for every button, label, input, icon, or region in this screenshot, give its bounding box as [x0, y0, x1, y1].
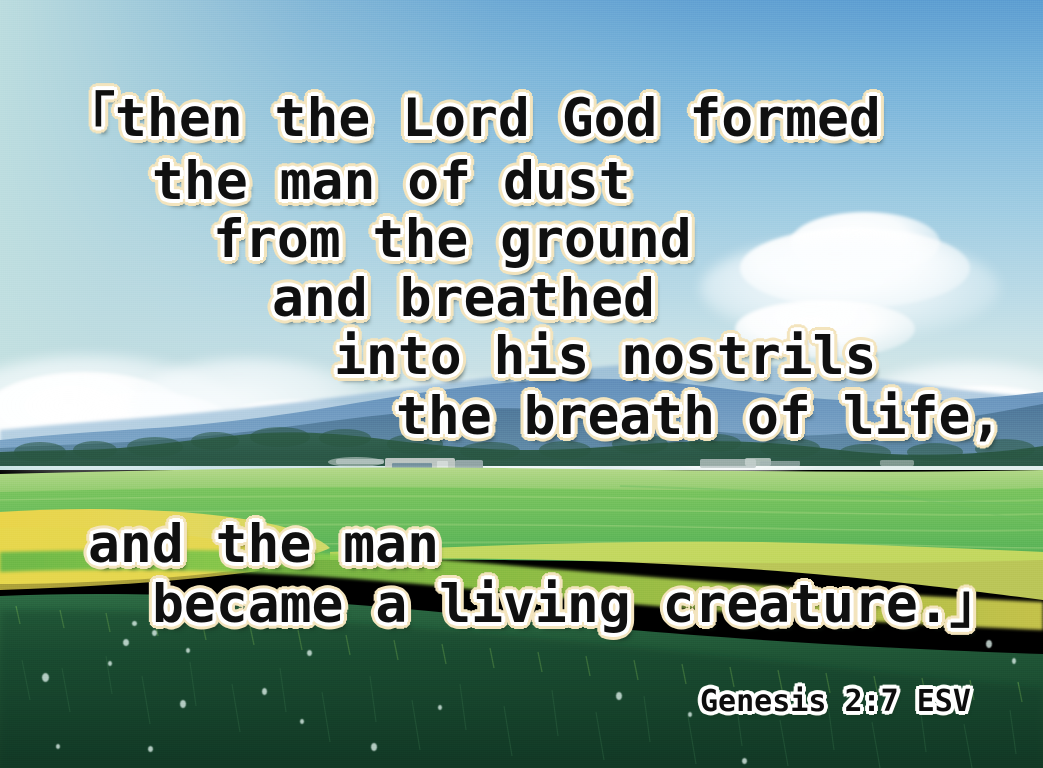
verse-line-1: 「then the Lord God formed [62, 92, 881, 145]
verse-line-6: the breath of life, [396, 390, 1002, 443]
verse-line-2: the man of dust [152, 155, 631, 208]
verse-image-canvas: 「then the Lord God formed the man of dus… [0, 0, 1043, 768]
verse-line-3: from the ground [213, 213, 692, 266]
verse-line-7: and the man [88, 518, 439, 571]
verse-reference: Genesis 2:7 ESV [700, 687, 971, 717]
verse-line-5: into his nostrils [334, 330, 876, 383]
verse-line-4: and breathed [272, 272, 655, 325]
verse-line-8: became a living creature.」 [152, 578, 1003, 631]
